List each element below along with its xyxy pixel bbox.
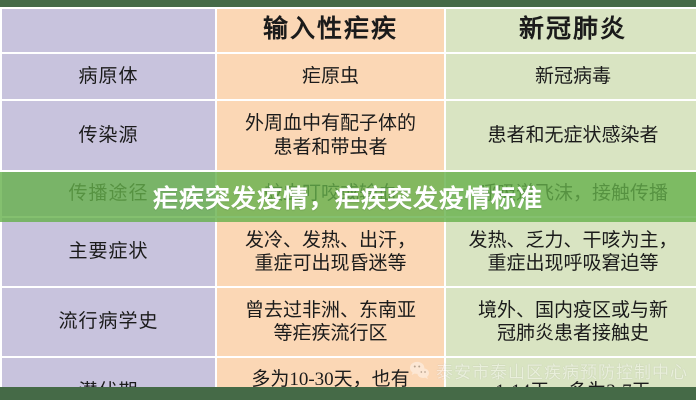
table-row: 病原体 疟原虫 新冠病毒 [2,54,696,99]
cell-line: 发冷、发热、出汗， [221,229,440,252]
cell-covid-epidemiology: 境外、国内疫区或与新 冠肺炎患者接触史 [446,288,696,356]
cell-line: 境外、国内疫区或与新 [450,299,696,322]
cell-covid-symptoms: 发热、乏力、干咳为主， 重症出现呼吸窘迫等 [446,218,696,286]
table-row: 主要症状 发冷、发热、出汗， 重症可出现昏迷等 发热、乏力、干咳为主， 重症出现… [2,218,696,286]
cell-malaria-route: 蚊虫叮咬或输血 [217,172,444,216]
row-label-route: 传播途径 [2,172,215,216]
cell-covid-pathogen: 新冠病毒 [446,54,696,99]
screenshot-root: 输入性疟疾 新冠肺炎 病原体 疟原虫 新冠病毒 传染源 外周血中有配子体的 [0,0,696,400]
header-cell-malaria: 输入性疟疾 [217,9,444,52]
bottom-frame-bar [0,387,696,400]
cell-line: 等疟疾流行区 [221,322,440,345]
comparison-table-container: 输入性疟疾 新冠肺炎 病原体 疟原虫 新冠病毒 传染源 外周血中有配子体的 [0,7,696,387]
cell-line: 患者和无症状感染者 [450,124,696,147]
row-label-symptoms: 主要症状 [2,218,215,286]
cell-malaria-pathogen: 疟原虫 [217,54,444,99]
comparison-table: 输入性疟疾 新冠肺炎 病原体 疟原虫 新冠病毒 传染源 外周血中有配子体的 [0,7,696,400]
cell-malaria-source: 外周血中有配子体的 患者和带虫者 [217,101,444,170]
cell-line: 外周血中有配子体的 [221,112,440,135]
table-row: 流行病学史 曾去过非洲、东南亚 等疟疾流行区 境外、国内疫区或与新 冠肺炎患者接… [2,288,696,356]
cell-malaria-symptoms: 发冷、发热、出汗， 重症可出现昏迷等 [217,218,444,286]
top-frame-bar [0,0,696,7]
cell-line: 重症可出现昏迷等 [221,252,440,275]
cell-line: 新冠病毒 [450,65,696,88]
row-label-source: 传染源 [2,101,215,170]
table-row: 传播途径 蚊虫叮咬或输血 呼吸道飞沫，接触传播 [2,172,696,216]
cell-line: 冠肺炎患者接触史 [450,322,696,345]
cell-malaria-epidemiology: 曾去过非洲、东南亚 等疟疾流行区 [217,288,444,356]
header-cell-covid: 新冠肺炎 [446,9,696,52]
table-row: 传染源 外周血中有配子体的 患者和带虫者 患者和无症状感染者 [2,101,696,170]
row-label-epidemiology: 流行病学史 [2,288,215,356]
cell-line: 蚊虫叮咬或输血 [221,182,440,205]
cell-covid-source: 患者和无症状感染者 [446,101,696,170]
cell-line: 患者和带虫者 [221,136,440,159]
cell-line: 重症出现呼吸窘迫等 [450,252,696,275]
cell-line: 发热、乏力、干咳为主， [450,229,696,252]
row-label-pathogen: 病原体 [2,54,215,99]
cell-line: 疟原虫 [221,65,440,88]
cell-line: 曾去过非洲、东南亚 [221,299,440,322]
header-cell-blank [2,9,215,52]
cell-line: 呼吸道飞沫，接触传播 [450,182,696,205]
table-header-row: 输入性疟疾 新冠肺炎 [2,9,696,52]
cell-covid-route: 呼吸道飞沫，接触传播 [446,172,696,216]
